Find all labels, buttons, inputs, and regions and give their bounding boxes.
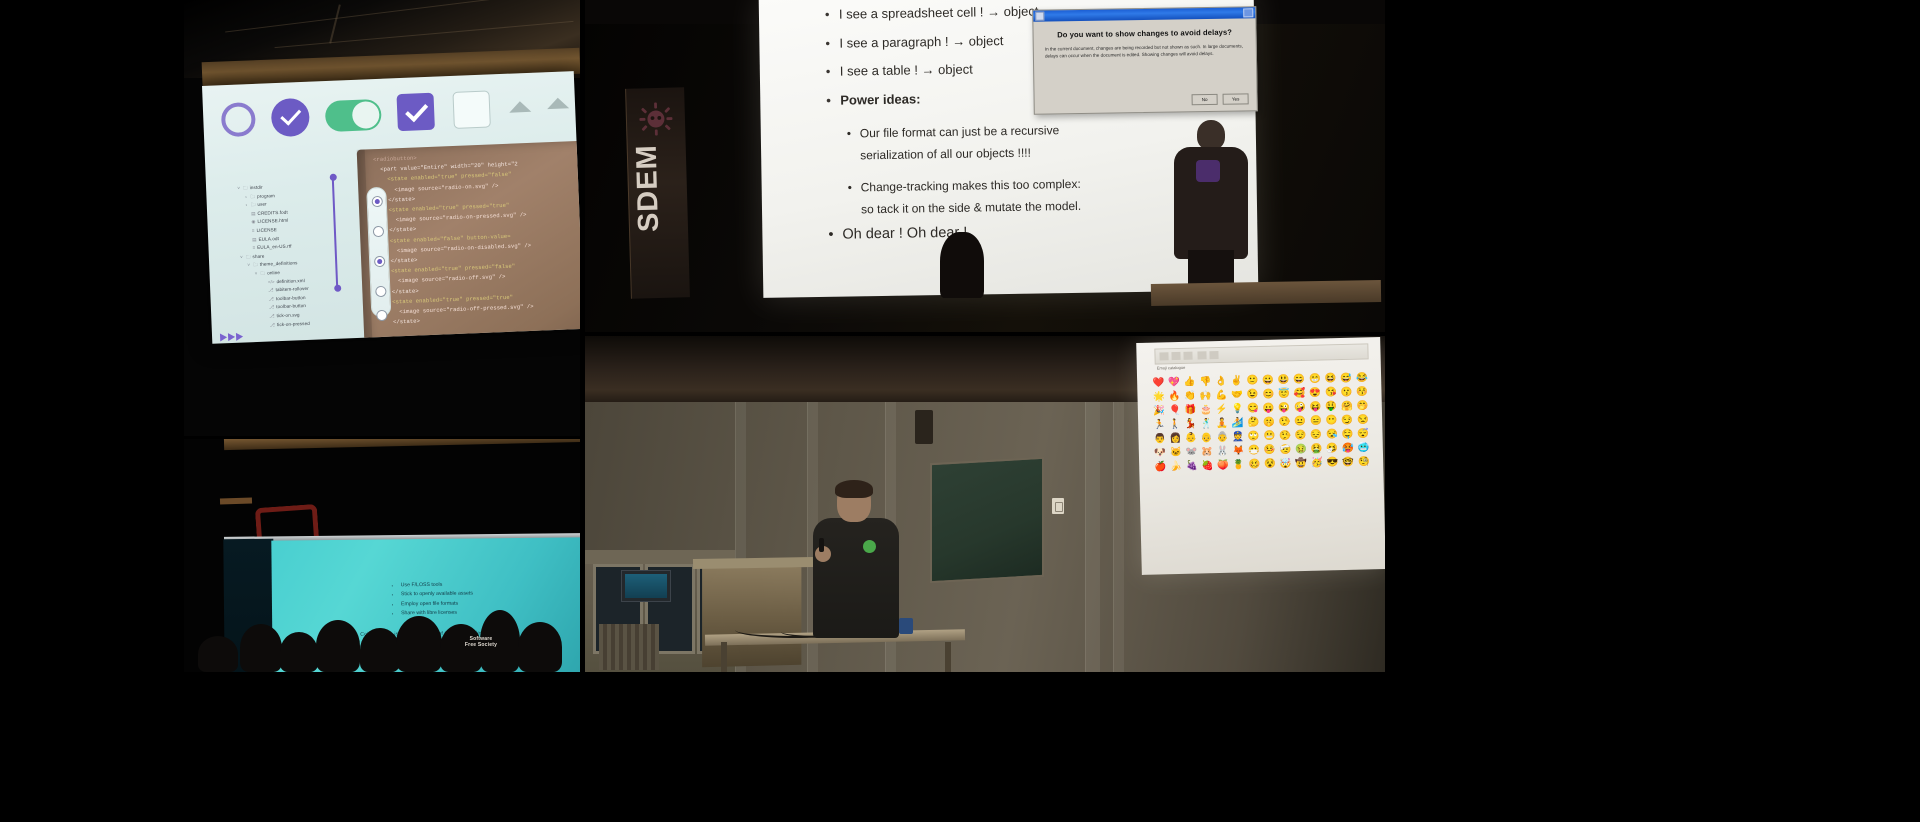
emoji-cell[interactable]: 🤝: [1230, 388, 1245, 401]
emoji-cell[interactable]: 😑: [1308, 414, 1323, 427]
emoji-cell[interactable]: 😷: [1247, 444, 1262, 457]
file-icon: ▤: [251, 210, 256, 219]
xml-code: <radiobutton> <part value="Entire" width…: [373, 149, 534, 329]
radio-off[interactable]: [375, 286, 386, 297]
emoji-cell[interactable]: 😄: [1292, 373, 1307, 386]
file-icon: ⎇: [269, 312, 275, 321]
emoji-cell[interactable]: 👵: [1215, 431, 1230, 444]
audience-row: [184, 586, 580, 672]
emoji-cell[interactable]: 😎: [1325, 456, 1340, 469]
dialog-yes-button[interactable]: Yes: [1223, 93, 1249, 104]
emoji-cell[interactable]: 😒: [1355, 413, 1370, 426]
emoji-cell[interactable]: 😉: [1245, 388, 1260, 401]
emoji-cell[interactable]: 😅: [1339, 372, 1354, 385]
emoji-cell[interactable]: 🧐: [1356, 455, 1371, 468]
emoji-cell[interactable]: 💡: [1230, 402, 1245, 415]
emoji-cell[interactable]: 😶: [1324, 414, 1339, 427]
emoji-cell[interactable]: ✌️: [1229, 374, 1244, 387]
emoji-cell[interactable]: 🤓: [1341, 456, 1356, 469]
file-icon: ⎇: [269, 304, 275, 313]
radio-ring-icon: [221, 102, 256, 137]
emoji-cell[interactable]: 🐶: [1153, 446, 1168, 459]
emoji-cell[interactable]: 🐰: [1215, 445, 1230, 458]
emoji-cell[interactable]: 🏃: [1152, 418, 1167, 431]
wall-pillar: [1085, 402, 1100, 672]
emoji-cell[interactable]: 🥵: [1340, 442, 1355, 455]
emoji-cell[interactable]: 🏄: [1230, 416, 1245, 429]
wall-ledge: [220, 497, 252, 504]
emoji-cell[interactable]: 🥳: [1309, 456, 1324, 469]
file-icon: ◉: [251, 218, 255, 227]
emoji-cell[interactable]: 👍: [1182, 376, 1197, 389]
cup: [899, 618, 913, 634]
power-socket-icon: [1052, 498, 1064, 514]
emoji-cell[interactable]: ⚡: [1214, 403, 1229, 416]
file-tree-label: program: [257, 192, 275, 201]
file-icon: ≡: [252, 244, 255, 253]
emoji-cell[interactable]: 👌: [1214, 375, 1229, 388]
microphone: [819, 538, 824, 552]
projection-screen: ˅🗀instdir›🗀program›🗀user▤CREDITS.fodt◉LI…: [202, 71, 580, 344]
radio-on[interactable]: [372, 196, 383, 207]
fosdem-banner: SDEM: [625, 87, 690, 299]
emoji-cell[interactable]: ❤️: [1151, 376, 1166, 389]
emoji-cell[interactable]: 😐: [1293, 415, 1308, 428]
photo-panel-floss-slide: Use F/LOSS tools Stick to openly availab…: [184, 438, 580, 672]
tree-twisty-icon[interactable]: ˅: [239, 253, 244, 262]
emoji-grid[interactable]: ❤️💖👍👎👌✌️🙂😀😃😄😁😆😅😂🌟🔥👏🙌💪🤝😉😊😇🥰😍😘😗😚🎉🎈🎁🎂⚡💡😋😛😜🤪…: [1151, 371, 1371, 473]
checkbox-empty-icon: [452, 90, 490, 128]
file-tree-label: tick-on-pressed: [277, 319, 310, 329]
emoji-cell[interactable]: 🤧: [1325, 442, 1340, 455]
emoji-cell[interactable]: 🎉: [1152, 404, 1167, 417]
emoji-cell[interactable]: 🤥: [1277, 415, 1292, 428]
emoji-cell[interactable]: 😌: [1293, 429, 1308, 442]
screen-caption: Emoji catalogue: [1157, 365, 1186, 371]
toggle-switch-icon: [325, 99, 382, 132]
emoji-cell[interactable]: 🤤: [1340, 428, 1355, 441]
emoji-cell[interactable]: 🌟: [1151, 390, 1166, 403]
emoji-cell[interactable]: 👩: [1168, 432, 1183, 445]
emoji-cell[interactable]: 🦊: [1231, 444, 1246, 457]
emoji-cell[interactable]: 😛: [1261, 402, 1276, 415]
desk-leg: [945, 642, 951, 672]
emoji-cell[interactable]: 👨: [1152, 432, 1167, 445]
audience-head-silhouette: [940, 232, 984, 298]
dialog-body-text: In the current document, changes are bei…: [1045, 42, 1245, 60]
checkbox-checked-icon: [396, 93, 434, 131]
emoji-cell[interactable]: 🤥: [1278, 429, 1293, 442]
emoji-cell[interactable]: 👎: [1198, 375, 1213, 388]
emoji-cell[interactable]: 🙄: [1246, 430, 1261, 443]
panel-gutter: [184, 436, 580, 439]
tree-twisty-icon[interactable]: ›: [244, 201, 249, 210]
change-tracking-dialog[interactable]: Do you want to show changes to avoid del…: [1032, 6, 1258, 115]
radio-on[interactable]: [374, 256, 385, 267]
emoji-cell[interactable]: 🤢: [1293, 443, 1308, 456]
shirt-logo: [863, 540, 876, 553]
dialog-app-icon: [1035, 12, 1044, 21]
emoji-cell[interactable]: 😘: [1323, 386, 1338, 399]
emoji-cell[interactable]: 🔥: [1167, 390, 1182, 403]
file-tree-label: EULA_en-US.rtf: [257, 243, 292, 253]
emoji-cell[interactable]: 🤔: [1246, 416, 1261, 429]
emoji-cell[interactable]: 🙌: [1198, 389, 1213, 402]
xml-code-panel: <radiobutton> <part value="Entire" width…: [357, 139, 580, 343]
emoji-cell[interactable]: 😗: [1339, 386, 1354, 399]
emoji-cell[interactable]: 🍇: [1184, 460, 1199, 473]
triangle-up-icon: [547, 97, 569, 109]
panel-gutter: [585, 332, 1385, 336]
emoji-cell[interactable]: 🎂: [1199, 403, 1214, 416]
emoji-cell[interactable]: 😬: [1262, 430, 1277, 443]
emoji-cell[interactable]: 👏: [1183, 390, 1198, 403]
emoji-cell[interactable]: 🕺: [1199, 417, 1214, 430]
software-freedom-logo: Software Free Society: [454, 636, 508, 662]
dialog-heading: Do you want to show changes to avoid del…: [1045, 27, 1245, 39]
banner-text: SDEM: [632, 143, 684, 232]
speaker-silhouette: [1170, 120, 1252, 300]
emoji-cell[interactable]: 🙂: [1245, 374, 1260, 387]
emoji-cell[interactable]: 😀: [1260, 374, 1275, 387]
letterbox-right: [1385, 0, 1920, 822]
emoji-cell[interactable]: 🍎: [1153, 460, 1168, 473]
emoji-cell[interactable]: 👴: [1199, 431, 1214, 444]
emoji-cell[interactable]: 😁: [1307, 372, 1322, 385]
emoji-cell[interactable]: 🧘: [1215, 417, 1230, 430]
laptop[interactable]: [621, 570, 671, 602]
emoji-cell[interactable]: 🍌: [1169, 460, 1184, 473]
emoji-cell[interactable]: 🍑: [1216, 459, 1231, 472]
emoji-cell[interactable]: 😃: [1276, 373, 1291, 386]
emoji-cell[interactable]: 🤮: [1309, 442, 1324, 455]
check-circle-icon: [271, 98, 310, 137]
letterbox-left: [0, 0, 184, 822]
file-icon: 🗀: [250, 193, 255, 202]
photo-panel-lecture-hall: Emoji catalogue ❤️💖👍👎👌✌️🙂😀😃😄😁😆😅😂🌟🔥👏🙌💪🤝😉😊…: [585, 336, 1385, 672]
file-icon: ⎇: [268, 286, 274, 295]
emoji-cell[interactable]: 🤒: [1262, 444, 1277, 457]
emoji-cell[interactable]: 🤪: [1292, 401, 1307, 414]
file-icon: 🗀: [260, 270, 265, 279]
tree-twisty-icon[interactable]: ˅: [253, 270, 258, 279]
emoji-cell[interactable]: 💪: [1214, 389, 1229, 402]
emoji-cell[interactable]: 😆: [1323, 372, 1338, 385]
emoji-cell[interactable]: 👮: [1231, 430, 1246, 443]
emoji-cell[interactable]: 👶: [1184, 432, 1199, 445]
emoji-cell[interactable]: 🎁: [1183, 404, 1198, 417]
emoji-cell[interactable]: 😊: [1261, 388, 1276, 401]
emoji-cell[interactable]: 😂: [1354, 371, 1369, 384]
emoji-cell[interactable]: 🥴: [1247, 458, 1262, 471]
emoji-cell[interactable]: 🤠: [1294, 457, 1309, 470]
emoji-cell[interactable]: 🤫: [1262, 416, 1277, 429]
emoji-cell[interactable]: 🤕: [1278, 443, 1293, 456]
panel-gutter: [580, 0, 585, 822]
emoji-cell[interactable]: 😏: [1340, 414, 1355, 427]
emoji-cell[interactable]: 🥶: [1356, 441, 1371, 454]
podium: [702, 565, 801, 668]
photo-collage: ˅🗀instdir›🗀program›🗀user▤CREDITS.fodt◉LI…: [0, 0, 1920, 822]
file-icon: 🗀: [243, 184, 248, 193]
file-icon: </>: [268, 278, 275, 287]
emoji-cell[interactable]: 😴: [1356, 427, 1371, 440]
stage-table: [1151, 280, 1381, 306]
emoji-cell[interactable]: 😔: [1309, 428, 1324, 441]
emoji-cell[interactable]: 😵: [1263, 458, 1278, 471]
emoji-cell[interactable]: 💃: [1183, 418, 1198, 431]
logo-line-2: Free Society: [454, 642, 508, 648]
file-icon: ≡: [252, 227, 255, 236]
emoji-cell[interactable]: 🍓: [1200, 459, 1215, 472]
emoji-cell[interactable]: 😜: [1277, 401, 1292, 414]
tree-twisty-icon[interactable]: ›: [243, 193, 248, 202]
photo-panel-fosdem-talk: SDEM •I see a spreadsheet cell ! → objec…: [585, 0, 1385, 334]
radiator: [599, 624, 659, 670]
emoji-cell[interactable]: 🍍: [1231, 458, 1246, 471]
file-icon: 🗀: [246, 253, 251, 262]
dialog-window-buttons[interactable]: [1243, 8, 1253, 17]
emoji-cell[interactable]: 😇: [1276, 387, 1291, 400]
pointer-arrows: [220, 333, 243, 342]
dialog-buttons[interactable]: No Yes: [1192, 93, 1249, 105]
emoji-cell[interactable]: 🐭: [1184, 446, 1199, 459]
emoji-cell[interactable]: 🤭: [1355, 399, 1370, 412]
emoji-projection-screen: Emoji catalogue ❤️💖👍👎👌✌️🙂😀😃😄😁😆😅😂🌟🔥👏🙌💪🤝😉😊…: [1136, 337, 1385, 575]
widget-row: [221, 86, 563, 146]
podium-top: [693, 557, 813, 569]
emoji-cell[interactable]: 🥰: [1292, 387, 1307, 400]
wall-pillar: [1113, 402, 1124, 672]
emoji-cell[interactable]: 🐱: [1168, 446, 1183, 459]
file-icon: ⎇: [268, 295, 274, 304]
emoji-cell[interactable]: 😍: [1308, 386, 1323, 399]
tree-twisty-icon[interactable]: ˅: [236, 185, 241, 194]
emoji-cell[interactable]: 😚: [1355, 385, 1370, 398]
emoji-cell[interactable]: 🤗: [1339, 400, 1354, 413]
emoji-cell[interactable]: 😋: [1246, 402, 1261, 415]
emoji-cell[interactable]: 🐹: [1200, 445, 1215, 458]
wall-speaker-box: [915, 410, 933, 444]
file-icon: ▤: [252, 236, 257, 245]
screen-toolbar: [1154, 343, 1368, 364]
tree-twisty-icon[interactable]: ˅: [246, 262, 251, 271]
radio-off[interactable]: [373, 226, 384, 237]
gear-face-icon: [638, 102, 673, 137]
emoji-cell[interactable]: 🚶: [1168, 418, 1183, 431]
emoji-cell[interactable]: 🎈: [1167, 404, 1182, 417]
letterbox-bottom: [184, 672, 1385, 822]
desk-leg: [721, 642, 727, 672]
photo-panel-libreoffice-theming: ˅🗀instdir›🗀program›🗀user▤CREDITS.fodt◉LI…: [184, 0, 580, 440]
chalkboard: [930, 457, 1044, 583]
emoji-cell[interactable]: 💖: [1167, 376, 1182, 389]
speaker: [811, 482, 901, 672]
emoji-cell[interactable]: 😝: [1308, 400, 1323, 413]
file-icon: 🗀: [253, 261, 258, 270]
emoji-cell[interactable]: 🤑: [1324, 400, 1339, 413]
emoji-cell[interactable]: 🤯: [1278, 457, 1293, 470]
dialog-no-button[interactable]: No: [1192, 94, 1218, 105]
file-icon: ⎇: [269, 321, 275, 330]
file-icon: 🗀: [251, 201, 256, 210]
emoji-cell[interactable]: 😪: [1324, 428, 1339, 441]
triangle-up-icon: [509, 101, 531, 113]
